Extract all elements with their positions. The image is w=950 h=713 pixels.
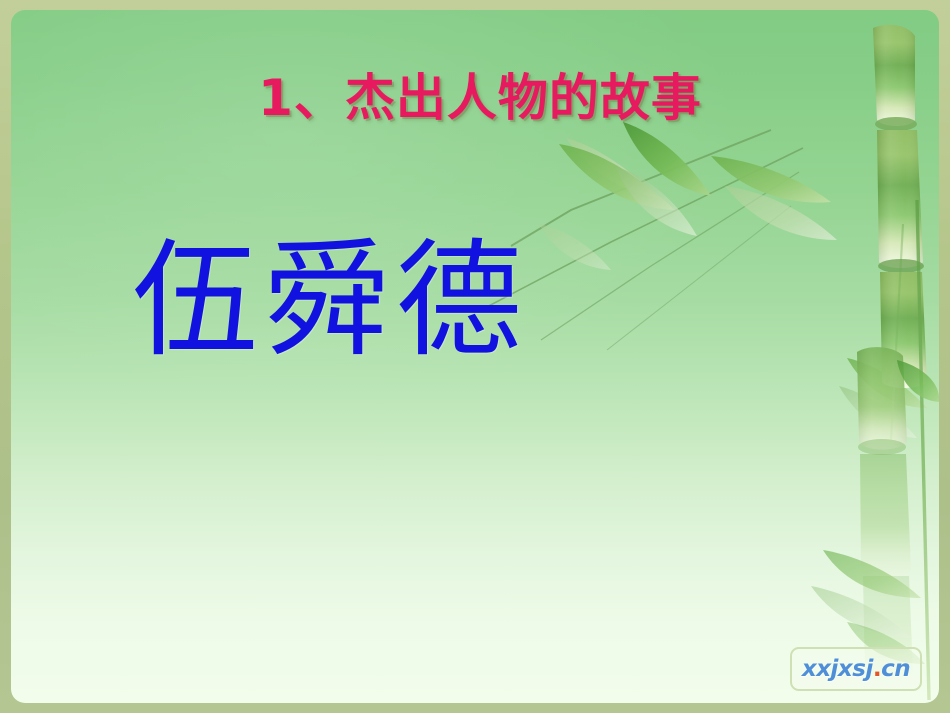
bamboo-leaf-cluster-upper-left xyxy=(559,122,711,236)
bamboo-leaf-cluster-right xyxy=(839,358,927,438)
bamboo-leaf-cluster-lower xyxy=(811,360,939,638)
watermark-badge: xxjxsj.cn xyxy=(790,647,922,691)
slide-canvas: 1、杰出人物的故事 伍舜德 xxjxsj.cn xyxy=(11,10,939,703)
slide-heading: 1、杰出人物的故事 xyxy=(258,72,702,125)
watermark-dot: . xyxy=(873,656,881,682)
watermark-text: xxjxsj.cn xyxy=(802,656,910,682)
slide-heading-row: 1、杰出人物的故事 xyxy=(11,72,939,125)
bamboo-leaf-cluster-mid xyxy=(711,156,837,240)
watermark-text-after-dot: cn xyxy=(881,656,910,682)
slide-title: 伍舜德 xyxy=(132,238,528,364)
slide-title-row: 伍舜德 xyxy=(11,238,939,364)
watermark-text-before-dot: xxjxsj xyxy=(802,656,873,682)
presentation-slide: 1、杰出人物的故事 伍舜德 xxjxsj.cn xyxy=(0,0,950,713)
bamboo-stalk-lower xyxy=(857,347,913,683)
